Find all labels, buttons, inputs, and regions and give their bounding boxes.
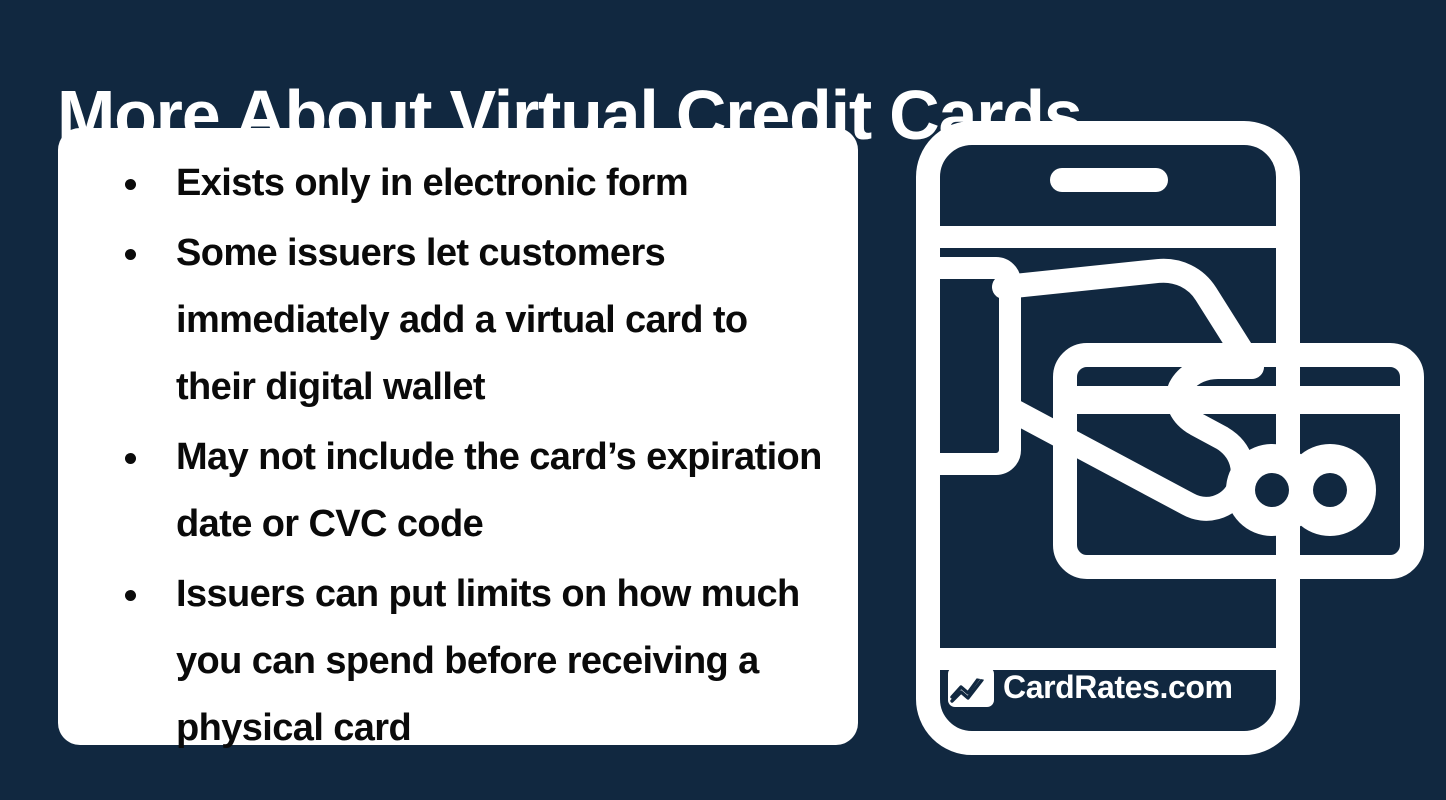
bullet-point-icon <box>125 590 136 601</box>
list-item-label: Issuers can put limits on how much you c… <box>176 573 800 749</box>
facts-card-panel: Exists only in electronic form Some issu… <box>58 128 858 745</box>
facts-list: Exists only in electronic form Some issu… <box>84 150 832 762</box>
card-magnetic-stripe <box>1077 386 1400 414</box>
list-item-label: Exists only in electronic form <box>176 162 688 204</box>
phone-screen-divider-top <box>940 226 1276 248</box>
infographic-root: More About Virtual Credit Cards Exists o… <box>0 0 1446 800</box>
smartphone-credit-card-illustration <box>900 120 1440 760</box>
list-item: Some issuers let customers immediately a… <box>84 220 832 421</box>
phone-speaker-slot <box>1050 168 1168 192</box>
chart-trend-up-icon <box>948 667 994 707</box>
list-item-label: May not include the card’s expiration da… <box>176 436 822 545</box>
list-item: Issuers can put limits on how much you c… <box>84 561 832 762</box>
list-item: May not include the card’s expiration da… <box>84 424 832 558</box>
cardrates-logo: CardRates.com <box>948 667 1233 707</box>
bullet-point-icon <box>125 179 136 190</box>
logo-text: CardRates.com <box>1003 670 1233 704</box>
list-item-label: Some issuers let customers immediately a… <box>176 232 748 408</box>
list-item: Exists only in electronic form <box>84 150 832 217</box>
bullet-point-icon <box>125 453 136 464</box>
bullet-point-icon <box>125 249 136 260</box>
card-payment-network-circles <box>1226 444 1376 536</box>
